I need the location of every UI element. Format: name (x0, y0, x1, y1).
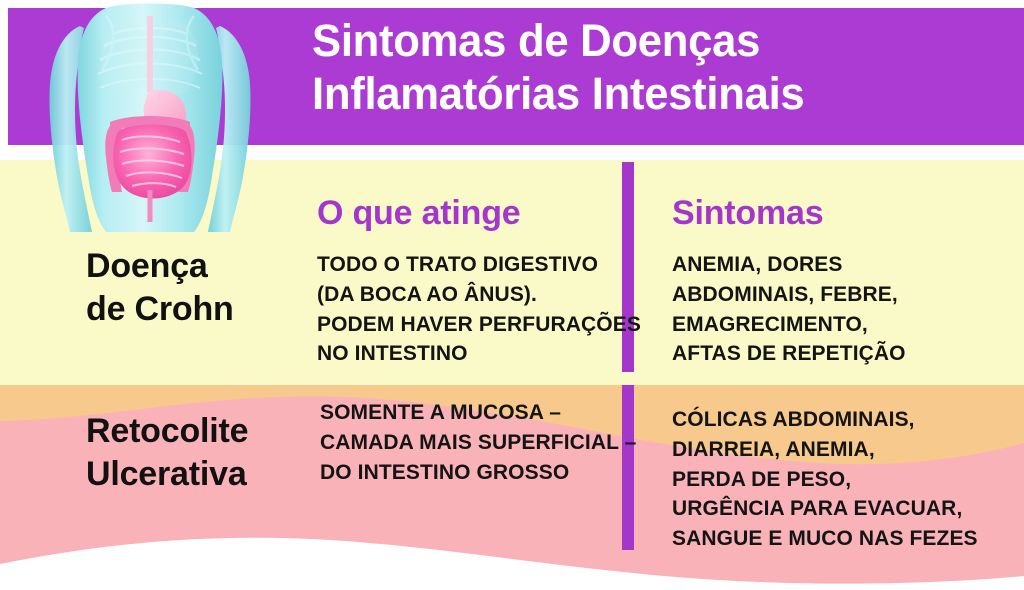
disease-name-crohn: Doença de Crohn (86, 245, 234, 330)
crohn-symptoms-line-2: ABDOMINAIS, FEBRE, (672, 280, 906, 310)
retocolite-symptoms-line-1: CÓLICAS ABDOMINAIS, (672, 405, 978, 435)
page-title: Sintomas de Doenças Inflamatórias Intest… (312, 14, 991, 120)
crohn-affects-line-1: TODO O TRATO DIGESTIVO (317, 250, 641, 280)
crohn-symptoms-text: ANEMIA, DORES ABDOMINAIS, FEBRE, EMAGREC… (672, 250, 906, 369)
retocolite-affects-line-3: DO INTESTINO GROSSO (320, 458, 636, 488)
retocolite-affects-line-2: CAMADA MAIS SUPERFICIAL – (320, 428, 636, 458)
retocolite-affects-text: SOMENTE A MUCOSA – CAMADA MAIS SUPERFICI… (320, 398, 636, 487)
retocolite-symptoms-text: CÓLICAS ABDOMINAIS, DIARREIA, ANEMIA, PE… (672, 405, 978, 554)
column-heading-affects: O que atinge (317, 196, 521, 230)
disease-name-retocolite-line-2: Ulcerativa (86, 453, 248, 496)
retocolite-symptoms-line-2: DIARREIA, ANEMIA, (672, 435, 978, 465)
infographic-root: Sintomas de Doenças Inflamatórias Intest… (0, 0, 1024, 590)
retocolite-symptoms-line-3: PERDA DE PESO, (672, 465, 978, 495)
crohn-affects-text: TODO O TRATO DIGESTIVO (DA BOCA AO ÂNUS)… (317, 250, 641, 369)
column-heading-symptoms: Sintomas (672, 196, 823, 230)
crohn-symptoms-line-4: AFTAS DE REPETIÇÃO (672, 339, 906, 369)
retocolite-affects-line-1: SOMENTE A MUCOSA – (320, 398, 636, 428)
human-digestive-system-illustration (44, 0, 256, 232)
crohn-affects-line-2: (DA BOCA AO ÂNUS). (317, 280, 641, 310)
retocolite-symptoms-line-4: URGÊNCIA PARA EVACUAR, (672, 494, 978, 524)
crohn-affects-line-4: NO INTESTINO (317, 339, 641, 369)
crohn-affects-line-3: PODEM HAVER PERFURAÇÕES (317, 310, 641, 340)
page-title-line-2: Inflamatórias Intestinais (312, 67, 991, 120)
crohn-symptoms-line-3: EMAGRECIMENTO, (672, 310, 906, 340)
disease-name-retocolite-line-1: Retocolite (86, 410, 248, 453)
crohn-symptoms-line-1: ANEMIA, DORES (672, 250, 906, 280)
page-title-line-1: Sintomas de Doenças (312, 14, 991, 67)
retocolite-symptoms-line-5: SANGUE E MUCO NAS FEZES (672, 524, 978, 554)
disease-name-retocolite: Retocolite Ulcerativa (86, 410, 248, 495)
disease-name-crohn-line-2: de Crohn (86, 288, 234, 331)
disease-name-crohn-line-1: Doença (86, 245, 234, 288)
